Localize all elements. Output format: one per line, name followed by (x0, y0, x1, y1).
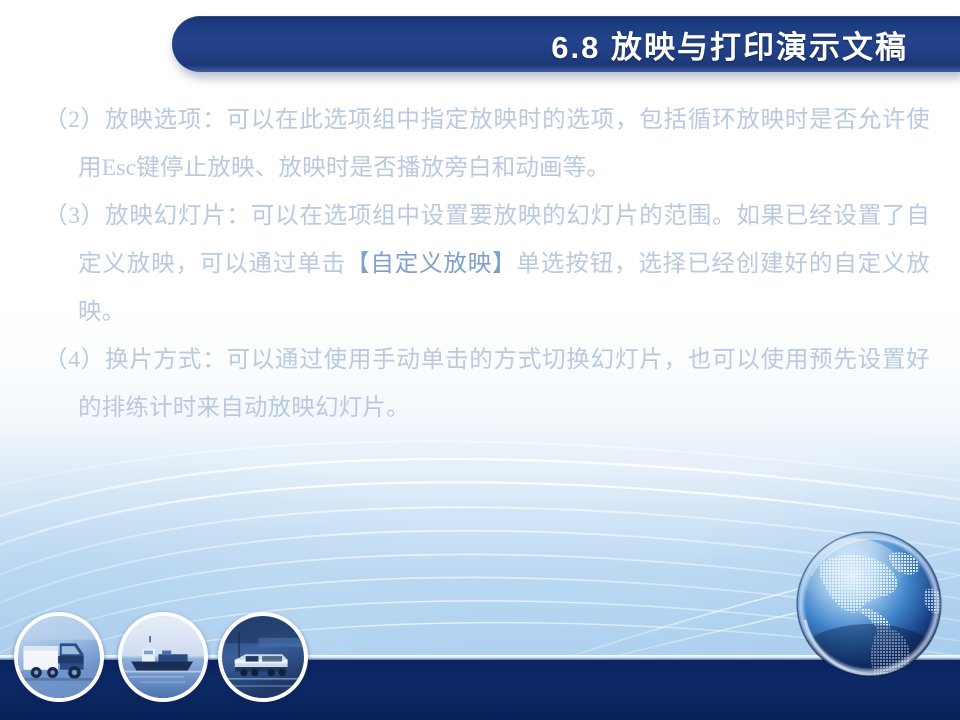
bullet-paragraph-3: （3）放映幻灯片：可以在选项组中设置要放映的幻灯片的范围。如果已经设置了自定义放… (44, 192, 930, 336)
page-title: 6.8 放映与打印演示文稿 (551, 22, 908, 67)
train-photo (218, 612, 308, 702)
ship-photo (118, 612, 208, 702)
slide-body: （2）放映选项：可以在此选项组中指定放映时的选项，包括循环放映时是否允许使用Es… (44, 96, 930, 432)
paragraph-2-text: （2）放映选项：可以在此选项组中指定放映时的选项，包括循环放映时是否允许使用Es… (44, 107, 930, 181)
ship-photo-image (122, 616, 204, 698)
truck-photo (14, 612, 104, 702)
bullet-paragraph-2: （2）放映选项：可以在此选项组中指定放映时的选项，包括循环放映时是否允许使用Es… (44, 96, 930, 192)
truck-photo-image (18, 616, 100, 698)
globe-graphic (793, 528, 945, 680)
paragraph-4-text: （4）换片方式：可以通过使用手动单击的方式切换幻灯片，也可以使用预先设置好的排练… (44, 347, 930, 421)
paragraph-3-highlight: 【自定义放映】 (346, 251, 517, 277)
train-photo-image (222, 616, 304, 698)
slide-canvas: 6.8 放映与打印演示文稿 （2）放映选项：可以在此选项组中指定放映时的选项，包… (0, 0, 960, 720)
title-bar: 6.8 放映与打印演示文稿 (172, 16, 960, 72)
bullet-paragraph-4: （4）换片方式：可以通过使用手动单击的方式切换幻灯片，也可以使用预先设置好的排练… (44, 336, 930, 432)
